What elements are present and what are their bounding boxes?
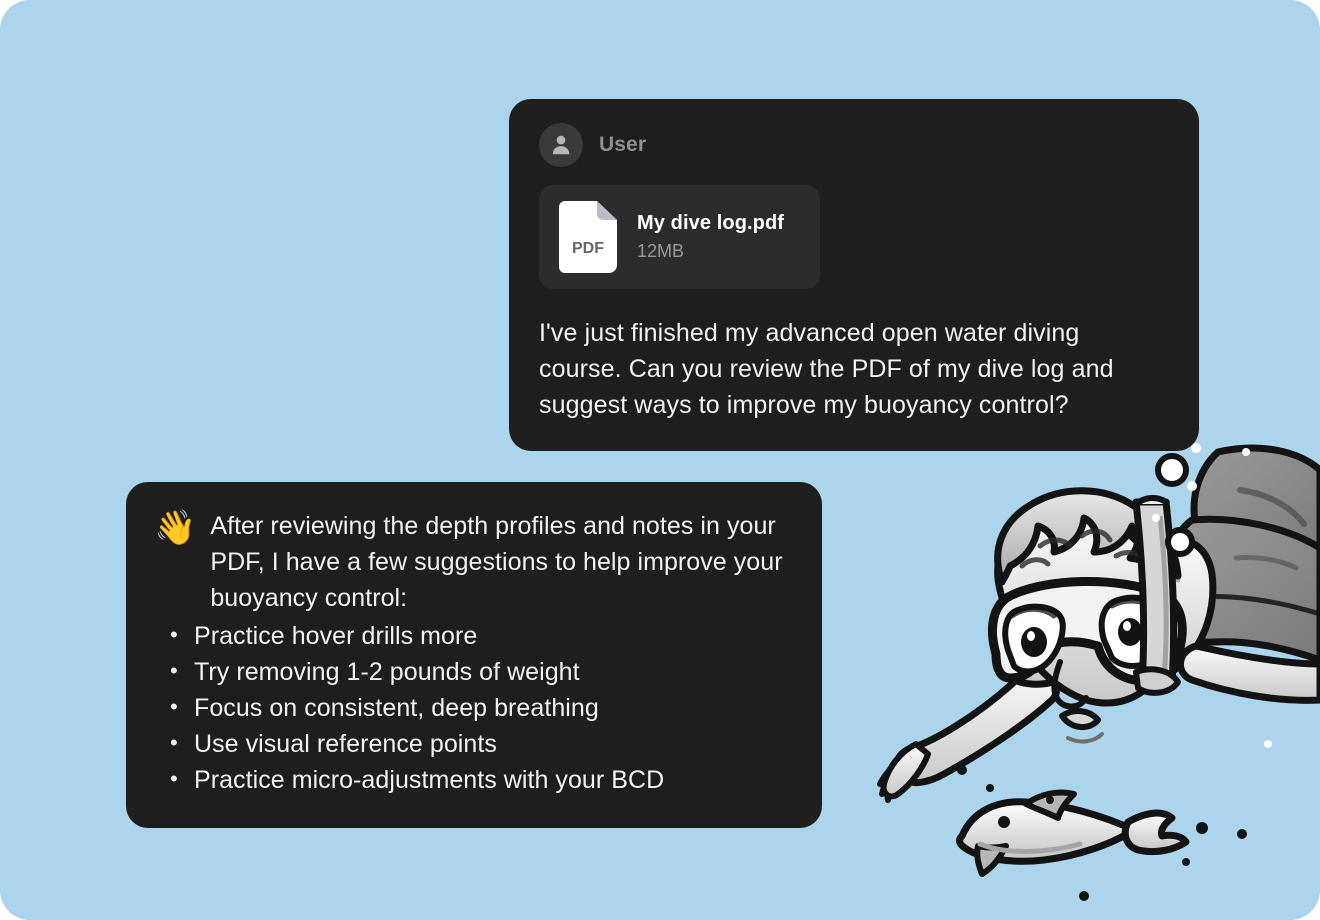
fish-dorsal-fin <box>1026 792 1074 818</box>
attachment-chip[interactable]: PDF My dive log.pdf 12MB <box>539 185 820 289</box>
diver-hair <box>998 491 1178 582</box>
bubble-tiny-4 <box>1196 822 1208 834</box>
diver-body <box>1053 539 1213 693</box>
assistant-intro-text: After reviewing the depth profiles and n… <box>210 508 794 616</box>
pdf-icon-label: PDF <box>572 240 604 257</box>
diver-wetsuit-shade-2 <box>1236 557 1296 568</box>
assistant-message-bubble: 👋 After reviewing the depth profiles and… <box>126 482 822 828</box>
fish-body <box>960 802 1134 861</box>
fish-tail <box>1125 813 1186 852</box>
fish-belly-line <box>980 844 1080 852</box>
diver-left-arm <box>896 670 1057 783</box>
diver-snorkel <box>1136 502 1174 684</box>
diver-nose <box>1054 662 1086 707</box>
bubble-large-2 <box>1168 530 1192 554</box>
diver-figure <box>880 448 1320 800</box>
diver-wetsuit-torso <box>1166 519 1320 660</box>
diver-eyebrows <box>1012 601 1158 616</box>
diver-dive-mask <box>992 581 1182 680</box>
diver-left-eye <box>1021 627 1047 657</box>
bubble-tiny-2 <box>1187 481 1197 491</box>
diver-right-eye-highlight <box>1123 621 1131 631</box>
attachment-file-size: 12MB <box>637 241 784 262</box>
diver-left-hand <box>880 752 912 800</box>
user-message-text: I've just finished my advanced open wate… <box>539 315 1169 423</box>
diver-head <box>998 511 1172 703</box>
diver-wetsuit-shade-1 <box>1240 490 1304 524</box>
bubble-large-1 <box>1158 456 1186 484</box>
bubble-tiny-9 <box>986 784 994 792</box>
diver-back-shading <box>1096 574 1178 586</box>
pdf-file-icon: PDF <box>559 201 617 273</box>
list-item: Use visual reference points <box>154 726 794 762</box>
list-item: Practice micro-adjustments with your BCD <box>154 762 794 798</box>
fish-pectoral-fin <box>977 846 1006 874</box>
diver-hair-strokes <box>1022 531 1144 566</box>
attachment-file-name: My dive log.pdf <box>637 212 784 235</box>
diver-wetsuit-seam <box>1176 596 1320 614</box>
fish-figure <box>960 792 1186 874</box>
bubble-tiny-6 <box>1182 858 1190 866</box>
waving-hand-emoji: 👋 <box>154 510 196 546</box>
air-bubbles <box>957 412 1272 901</box>
list-item: Focus on consistent, deep breathing <box>154 690 794 726</box>
diver-left-eye-highlight <box>1027 631 1035 641</box>
bubble-tiny-11 <box>1264 740 1272 748</box>
attachment-meta: My dive log.pdf 12MB <box>637 212 784 262</box>
message-header: User <box>539 123 1169 167</box>
diver-snorkel-shade <box>1160 516 1166 678</box>
diver-chin-line <box>1068 734 1102 741</box>
diver-left-hand-palm <box>884 744 928 796</box>
bubble-tiny-7 <box>1079 891 1089 901</box>
diver-right-forearm <box>1180 646 1320 700</box>
diver-right-arm <box>1194 448 1320 560</box>
list-item: Practice hover drills more <box>154 618 794 654</box>
person-avatar-icon <box>539 123 583 167</box>
diver-mouth <box>1062 711 1098 727</box>
mask-right-lens <box>1102 598 1169 666</box>
bubble-tiny-12 <box>1242 448 1250 456</box>
list-item: Try removing 1-2 pounds of weight <box>154 654 794 690</box>
diver-right-eye <box>1118 618 1142 646</box>
suggestion-list: Practice hover drills more Try removing … <box>154 618 794 798</box>
mask-left-lens <box>1005 607 1063 672</box>
diver-neck <box>996 609 1101 684</box>
diver-snorkel-top <box>1136 498 1168 504</box>
message-author-name: User <box>599 133 646 157</box>
fish-eye <box>998 816 1010 828</box>
diver-snorkel-mouthpiece <box>1136 669 1178 693</box>
bubble-tiny-5 <box>1237 829 1247 839</box>
bubble-tiny-8 <box>957 765 967 775</box>
assistant-intro-row: 👋 After reviewing the depth profiles and… <box>154 508 794 616</box>
bubble-tiny-3 <box>1152 514 1160 522</box>
chat-illustration-canvas: User PDF My dive log.pdf 12MB I've just … <box>0 0 1320 920</box>
bubble-tiny-10 <box>1046 796 1054 804</box>
user-message-bubble: User PDF My dive log.pdf 12MB I've just … <box>509 99 1199 451</box>
